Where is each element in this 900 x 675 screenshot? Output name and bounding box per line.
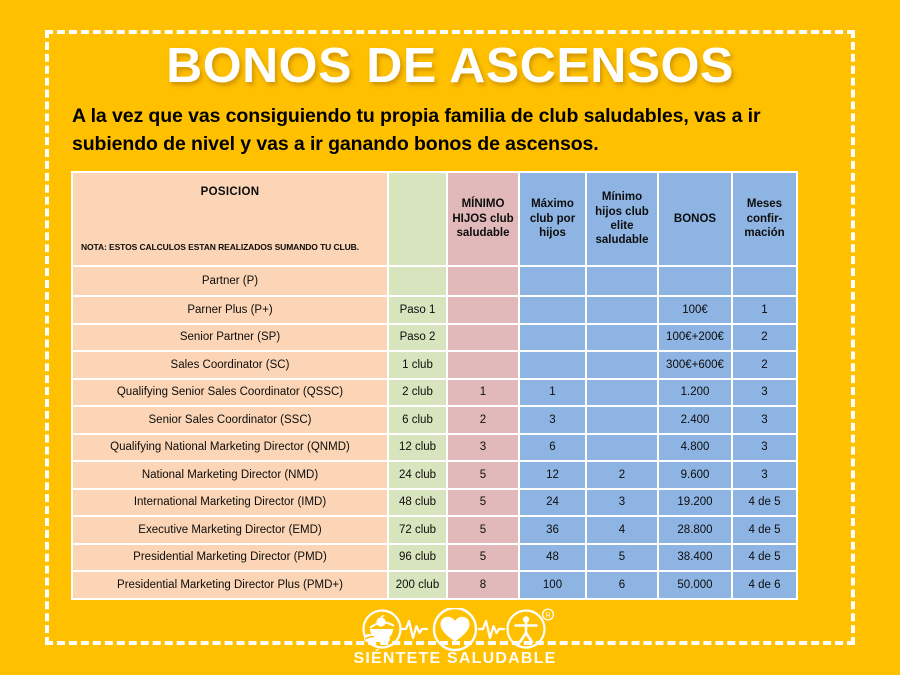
cell-step: 200 club (389, 572, 446, 598)
cell-meses: 4 de 5 (733, 545, 796, 571)
cell-position: Qualifying National Marketing Director (… (73, 435, 387, 461)
header-min-hijos: MÍNIMO HIJOS club saludable (448, 173, 518, 265)
heart-icon (434, 608, 476, 650)
header-position: POSICION NOTA: ESTOS CALCULOS ESTAN REAL… (73, 173, 387, 265)
cell-min-hijos: 5 (448, 462, 518, 488)
cell-max-club (520, 297, 585, 323)
cell-bonos: 50.000 (659, 572, 731, 598)
cell-position: Partner (P) (73, 267, 387, 295)
cell-meses: 3 (733, 407, 796, 433)
cell-min-elite: 6 (587, 572, 657, 598)
cell-min-elite (587, 435, 657, 461)
cell-meses: 4 de 5 (733, 490, 796, 516)
cell-min-hijos: 5 (448, 490, 518, 516)
cell-min-hijos: 3 (448, 435, 518, 461)
cell-step (389, 267, 446, 295)
cell-min-elite (587, 407, 657, 433)
cell-bonos: 100€+200€ (659, 325, 731, 351)
cell-max-club: 3 (520, 407, 585, 433)
hand-bowl-apple-icon (364, 611, 401, 648)
cell-bonos (659, 267, 731, 295)
cell-position: Sales Coordinator (SC) (73, 352, 387, 378)
cell-min-elite (587, 352, 657, 378)
table-row: International Marketing Director (IMD) 4… (73, 490, 796, 516)
cell-meses: 3 (733, 435, 796, 461)
cell-min-hijos: 2 (448, 407, 518, 433)
cell-meses: 4 de 6 (733, 572, 796, 598)
cell-position: International Marketing Director (IMD) (73, 490, 387, 516)
cell-bonos: 300€+600€ (659, 352, 731, 378)
table-header-row: POSICION NOTA: ESTOS CALCULOS ESTAN REAL… (73, 173, 796, 265)
cell-bonos: 4.800 (659, 435, 731, 461)
cell-position: National Marketing Director (NMD) (73, 462, 387, 488)
cell-max-club (520, 352, 585, 378)
cell-meses: 3 (733, 380, 796, 406)
header-position-label: POSICION (73, 185, 387, 199)
table-row: Sales Coordinator (SC) 1 club 300€+600€ … (73, 352, 796, 378)
cell-min-hijos: 5 (448, 545, 518, 571)
cell-max-club: 6 (520, 435, 585, 461)
cell-step: Paso 1 (389, 297, 446, 323)
cell-min-hijos (448, 297, 518, 323)
registered-mark-icon: R (543, 609, 554, 620)
table-row: Qualifying Senior Sales Coordinator (QSS… (73, 380, 796, 406)
cell-max-club: 100 (520, 572, 585, 598)
cell-bonos: 19.200 (659, 490, 731, 516)
cell-min-hijos (448, 325, 518, 351)
cell-position: Qualifying Senior Sales Coordinator (QSS… (73, 380, 387, 406)
header-step (389, 173, 446, 265)
cell-step: 1 club (389, 352, 446, 378)
ecg-line-left (402, 621, 427, 638)
cell-meses: 4 de 5 (733, 517, 796, 543)
cell-min-hijos (448, 352, 518, 378)
cell-position: Senior Sales Coordinator (SSC) (73, 407, 387, 433)
cell-min-elite: 3 (587, 490, 657, 516)
cell-bonos: 1.200 (659, 380, 731, 406)
cell-position: Executive Marketing Director (EMD) (73, 517, 387, 543)
cell-min-hijos: 8 (448, 572, 518, 598)
poster-canvas: BONOS DE ASCENSOS A la vez que vas consi… (0, 0, 900, 675)
bonuses-table: POSICION NOTA: ESTOS CALCULOS ESTAN REAL… (71, 171, 798, 600)
logo-graphic: R (350, 608, 560, 652)
table-row: National Marketing Director (NMD) 24 clu… (73, 462, 796, 488)
cell-position: Senior Partner (SP) (73, 325, 387, 351)
header-meses: Meses confir- mación (733, 173, 796, 265)
cell-max-club: 12 (520, 462, 585, 488)
brand-logo: R SIÉNTETE SALUDABLE (350, 608, 560, 670)
cell-position: Presidential Marketing Director Plus (PM… (73, 572, 387, 598)
cell-meses: 2 (733, 352, 796, 378)
cell-meses: 3 (733, 462, 796, 488)
cell-bonos: 9.600 (659, 462, 731, 488)
cell-min-elite (587, 325, 657, 351)
cell-bonos: 100€ (659, 297, 731, 323)
cell-max-club: 1 (520, 380, 585, 406)
cell-bonos: 28.800 (659, 517, 731, 543)
ecg-line-right (479, 621, 504, 638)
header-bonos: BONOS (659, 173, 731, 265)
table-row: Presidential Marketing Director (PMD) 96… (73, 545, 796, 571)
cell-step: 24 club (389, 462, 446, 488)
cell-min-elite: 4 (587, 517, 657, 543)
cell-step: 2 club (389, 380, 446, 406)
cell-max-club: 24 (520, 490, 585, 516)
cell-bonos: 2.400 (659, 407, 731, 433)
svg-text:R: R (545, 613, 550, 620)
header-min-elite: Mínimo hijos club elite saludable (587, 173, 657, 265)
table-row: Presidential Marketing Director Plus (PM… (73, 572, 796, 598)
table-row: Executive Marketing Director (EMD) 72 cl… (73, 517, 796, 543)
cell-step: 12 club (389, 435, 446, 461)
page-subtitle: A la vez que vas consiguiendo tu propia … (72, 102, 832, 159)
table-row: Partner (P) (73, 267, 796, 295)
table-row: Senior Partner (SP) Paso 2 100€+200€ 2 (73, 325, 796, 351)
cell-max-club: 36 (520, 517, 585, 543)
cell-max-club (520, 267, 585, 295)
cell-min-elite (587, 267, 657, 295)
cell-min-elite (587, 380, 657, 406)
cell-min-hijos: 1 (448, 380, 518, 406)
cell-min-elite: 2 (587, 462, 657, 488)
cell-max-club: 48 (520, 545, 585, 571)
person-icon (508, 611, 545, 648)
cell-max-club (520, 325, 585, 351)
logo-wordmark: SIÉNTETE SALUDABLE (350, 650, 560, 668)
cell-step: 48 club (389, 490, 446, 516)
cell-min-elite: 5 (587, 545, 657, 571)
cell-bonos: 38.400 (659, 545, 731, 571)
table-row: Qualifying National Marketing Director (… (73, 435, 796, 461)
cell-min-elite (587, 297, 657, 323)
cell-meses (733, 267, 796, 295)
cell-position: Presidential Marketing Director (PMD) (73, 545, 387, 571)
cell-position: Parner Plus (P+) (73, 297, 387, 323)
table-row: Senior Sales Coordinator (SSC) 6 club 2 … (73, 407, 796, 433)
cell-meses: 1 (733, 297, 796, 323)
page-title: BONOS DE ASCENSOS (0, 38, 900, 94)
cell-step: Paso 2 (389, 325, 446, 351)
cell-step: 72 club (389, 517, 446, 543)
table-row: Parner Plus (P+) Paso 1 100€ 1 (73, 297, 796, 323)
cell-meses: 2 (733, 325, 796, 351)
cell-min-hijos: 5 (448, 517, 518, 543)
header-position-note: NOTA: ESTOS CALCULOS ESTAN REALIZADOS SU… (81, 242, 359, 253)
header-max-club: Máximo club por hijos (520, 173, 585, 265)
cell-step: 96 club (389, 545, 446, 571)
bonuses-table-container: POSICION NOTA: ESTOS CALCULOS ESTAN REAL… (71, 171, 796, 600)
cell-step: 6 club (389, 407, 446, 433)
cell-min-hijos (448, 267, 518, 295)
